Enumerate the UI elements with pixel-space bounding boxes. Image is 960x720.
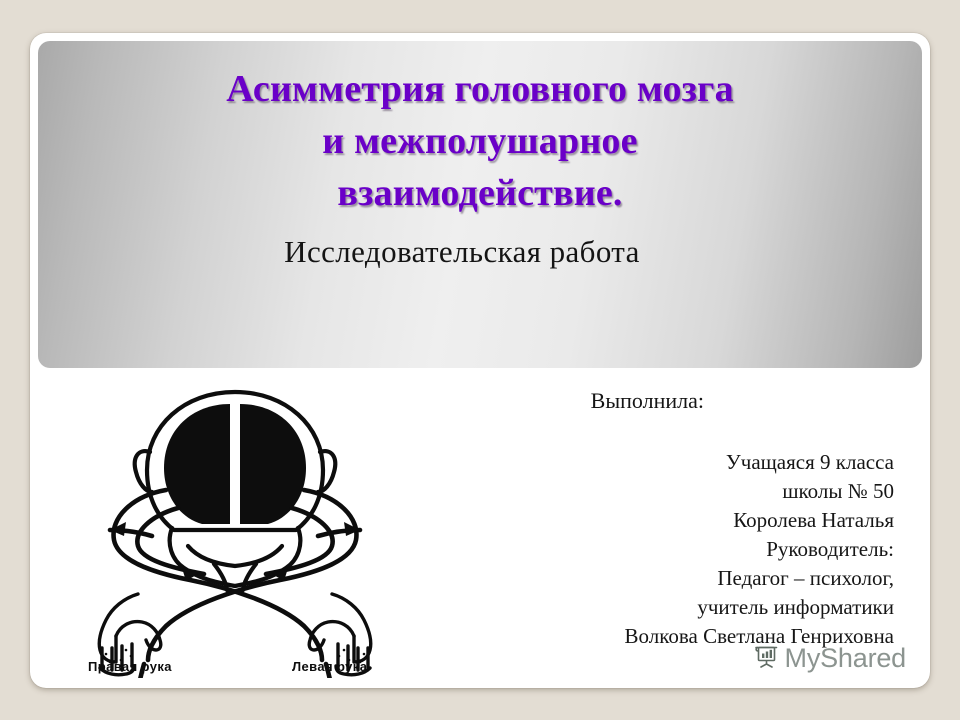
author-line-supervisor-role-2: учитель информатики (625, 593, 894, 622)
hemisphere-left (164, 404, 230, 524)
page-title: Асимметрия головного мозга и межполушарн… (38, 63, 922, 219)
neck-crease (188, 546, 282, 566)
author-block: Учащаяся 9 класса школы № 50 Королева На… (625, 448, 894, 651)
author-line-student-name: Королева Наталья (625, 506, 894, 535)
author-line-supervisor-role-1: Педагог – психолог, (625, 564, 894, 593)
slide: Асимметрия головного мозга и межполушарн… (30, 33, 930, 688)
author-line-supervisor-label: Руководитель: (625, 535, 894, 564)
title-line-3: взаимодействие. (72, 167, 888, 219)
subtitle: Исследовательская работа (38, 233, 922, 271)
presentation-chart-icon (753, 643, 779, 674)
title-line-2: и межполушарное (72, 115, 888, 167)
label-left-hand: Левая рука (292, 659, 368, 674)
author-line-school: школы № 50 (625, 477, 894, 506)
label-right-hand: Правая рука (88, 659, 172, 674)
title-panel: Асимметрия головного мозга и межполушарн… (38, 41, 922, 368)
author-line-class: Учащаяся 9 класса (625, 448, 894, 477)
title-line-1: Асимметрия головного мозга (72, 63, 888, 115)
brain-diagram-illustration: Правая рука Левая рука (80, 378, 390, 678)
hemisphere-right (240, 404, 306, 524)
watermark-text: MyShared (785, 643, 906, 674)
watermark: MyShared (753, 643, 906, 674)
brain-hemispheres (164, 404, 306, 524)
